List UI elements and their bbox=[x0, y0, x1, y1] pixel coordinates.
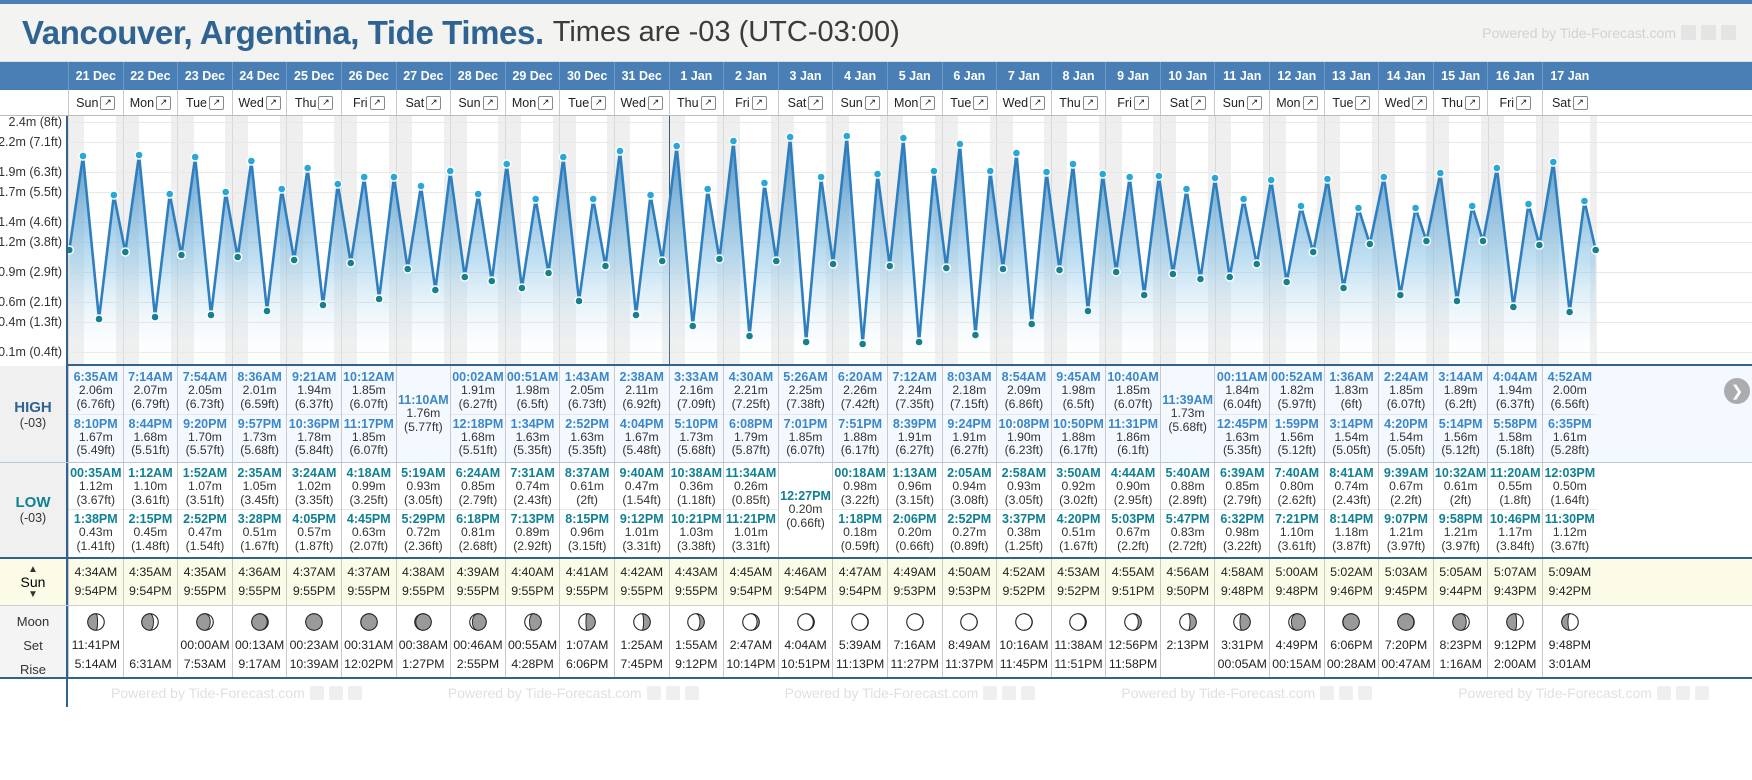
date-header-cell[interactable]: 21 Dec bbox=[68, 62, 123, 90]
weekday-label: Tue bbox=[186, 96, 207, 110]
tide-height-m: 0.99m bbox=[342, 480, 396, 494]
low-tide-point[interactable] bbox=[658, 257, 666, 265]
tide-height-m: 1.01m bbox=[724, 526, 778, 540]
surf-icon bbox=[1695, 686, 1709, 700]
high-tide-point[interactable] bbox=[817, 173, 825, 181]
low-tide-point[interactable] bbox=[1479, 237, 1487, 245]
powered-by-footer: Powered by Tide-Forecast.com bbox=[111, 685, 362, 701]
high-tide-point[interactable] bbox=[729, 137, 737, 145]
tide-height-m: 0.98m bbox=[833, 480, 887, 494]
low-tide-point[interactable] bbox=[942, 264, 950, 272]
sunset-time: 9:54PM bbox=[779, 582, 833, 601]
tide-height-ft: (2ft) bbox=[560, 494, 614, 508]
tide-time: 10:36PM bbox=[287, 417, 341, 431]
low-tide-point[interactable] bbox=[1028, 320, 1036, 328]
low-tide-point[interactable] bbox=[1592, 246, 1600, 254]
low-tide-event: 2:35AM1.05m(3.45ft) bbox=[233, 464, 287, 509]
tide-height-ft: (6.17ft) bbox=[1052, 444, 1106, 458]
low-tide-point[interactable] bbox=[746, 332, 754, 340]
date-header-cell[interactable]: 2 Jan bbox=[723, 62, 778, 90]
low-tide-event: 2:52PM0.27m(0.89ft) bbox=[943, 509, 997, 555]
moonrise-time: 6:31AM bbox=[129, 655, 171, 673]
high-tide-point[interactable] bbox=[417, 182, 425, 190]
tide-height-m: 0.27m bbox=[943, 526, 997, 540]
low-tide-cell: 8:37AM0.61m(2ft)8:15PM0.96m(3.15ft) bbox=[559, 463, 614, 557]
high-tide-point[interactable] bbox=[166, 190, 174, 198]
low-tide-point[interactable] bbox=[999, 265, 1007, 273]
moon-phase-icon bbox=[1395, 611, 1417, 633]
high-tide-point[interactable] bbox=[474, 190, 482, 198]
low-tide-point[interactable] bbox=[121, 248, 129, 256]
high-tide-point[interactable] bbox=[1493, 164, 1501, 172]
low-tide-point[interactable] bbox=[375, 295, 383, 303]
sunset-time: 9:48PM bbox=[1270, 582, 1324, 601]
tide-height-m: 2.25m bbox=[779, 384, 833, 398]
weekday-cell: Thu↗ bbox=[669, 90, 724, 115]
low-tide-point[interactable] bbox=[545, 269, 553, 277]
expand-icon[interactable]: ↗ bbox=[483, 96, 498, 110]
tide-height-ft: (2.95ft) bbox=[1106, 494, 1160, 508]
expand-icon[interactable]: ↗ bbox=[266, 96, 281, 110]
tide-height-ft: (2.79ft) bbox=[1215, 494, 1269, 508]
expand-icon[interactable]: ↗ bbox=[1083, 96, 1098, 110]
expand-icon[interactable]: ↗ bbox=[1134, 96, 1149, 110]
date-header-cell[interactable]: 28 Dec bbox=[450, 62, 505, 90]
low-tide-point[interactable] bbox=[886, 262, 894, 270]
low-tide-cell: 00:35AM1.12m(3.67ft)1:38PM0.43m(1.41ft) bbox=[68, 463, 123, 557]
high-tide-point[interactable] bbox=[930, 167, 938, 175]
tide-height-m: 1.10m bbox=[124, 480, 178, 494]
high-tide-point[interactable] bbox=[1412, 204, 1420, 212]
high-tide-cell: 4:30AM2.21m(7.25ft)6:08PM1.79m(5.87ft) bbox=[723, 366, 778, 462]
tide-time: 10:12AM bbox=[342, 370, 396, 384]
high-tide-point[interactable] bbox=[222, 188, 230, 196]
date-header-cell[interactable]: 26 Dec bbox=[341, 62, 396, 90]
high-tide-cell: 8:36AM2.01m(6.59ft)9:57PM1.73m(5.68ft) bbox=[232, 366, 287, 462]
tide-height-m: 0.61m bbox=[1434, 480, 1488, 494]
low-tide-point[interactable] bbox=[207, 311, 215, 319]
tide-height-m: 1.91m bbox=[451, 384, 505, 398]
low-tide-point[interactable] bbox=[1566, 308, 1574, 316]
high-tide-point[interactable] bbox=[135, 151, 143, 159]
tide-height-ft: (6.73ft) bbox=[560, 398, 614, 412]
powered-by-label: Powered by Tide-Forecast.com bbox=[111, 685, 305, 701]
powered-by-top: Powered by Tide-Forecast.com bbox=[1482, 25, 1736, 41]
low-tide-point[interactable] bbox=[575, 297, 583, 305]
expand-icon[interactable]: ↗ bbox=[752, 96, 767, 110]
expand-icon[interactable]: ↗ bbox=[209, 96, 224, 110]
moonset-time: 00:00AM bbox=[180, 636, 229, 654]
low-tide-point[interactable] bbox=[1112, 268, 1120, 276]
moon-phase-icon bbox=[1013, 611, 1035, 633]
weekday-label: Fri bbox=[1499, 96, 1514, 110]
date-header-cell[interactable]: 15 Jan bbox=[1433, 62, 1488, 90]
high-tide-point[interactable] bbox=[79, 152, 87, 160]
high-tide-point[interactable] bbox=[191, 153, 199, 161]
high-tide-event: 10:08PM1.90m(6.23ft) bbox=[997, 414, 1051, 460]
tide-height-ft: (6.73ft) bbox=[178, 398, 232, 412]
sun-cell: 5:03AM9:45PM bbox=[1378, 559, 1433, 605]
tide-height-m: 1.86m bbox=[1106, 431, 1160, 445]
tide-height-ft: (5.35ft) bbox=[506, 444, 560, 458]
low-tide-point[interactable] bbox=[802, 338, 810, 346]
moonrise-time: 9:12PM bbox=[675, 655, 717, 673]
low-tide-point[interactable] bbox=[772, 257, 780, 265]
tide-height-m: 0.45m bbox=[124, 526, 178, 540]
high-tide-event: 10:12AM1.85m(6.07ft) bbox=[342, 368, 396, 413]
expand-icon[interactable]: ↗ bbox=[1030, 96, 1045, 110]
tide-height-m: 1.54m bbox=[1325, 431, 1379, 445]
high-tide-point[interactable] bbox=[874, 170, 882, 178]
low-tide-point[interactable] bbox=[1340, 284, 1348, 292]
moon-cell: 00:13AM9:17AM bbox=[232, 606, 287, 677]
moon-label-text: Moon bbox=[17, 614, 50, 629]
sun-row: ▲ Sun ▼ 4:34AM9:54PM4:35AM9:54PM4:35AM9:… bbox=[0, 559, 1752, 606]
high-tide-point[interactable] bbox=[986, 167, 994, 175]
low-tide-point[interactable] bbox=[1253, 260, 1261, 268]
low-tide-point[interactable] bbox=[177, 251, 185, 259]
high-tide-cell: 6:20AM2.26m(7.42ft)7:51PM1.88m(6.17ft) bbox=[832, 366, 887, 462]
low-tide-point[interactable] bbox=[859, 340, 867, 348]
low-tide-event: 8:37AM0.61m(2ft) bbox=[560, 464, 614, 509]
high-tide-point[interactable] bbox=[1323, 175, 1331, 183]
tide-height-ft: (1.67ft) bbox=[233, 540, 287, 554]
low-tide-point[interactable] bbox=[1309, 248, 1317, 256]
expand-icon[interactable]: ↗ bbox=[100, 96, 115, 110]
high-tide-point[interactable] bbox=[616, 147, 624, 155]
date-header-cell[interactable]: 23 Dec bbox=[177, 62, 232, 90]
expand-icon[interactable]: ↗ bbox=[1412, 96, 1427, 110]
sunset-time: 9:55PM bbox=[560, 582, 614, 601]
expand-icon[interactable]: ↗ bbox=[1303, 96, 1318, 110]
low-tide-event: 1:52AM1.07m(3.51ft) bbox=[178, 464, 232, 509]
high-tide-event: 00:11AM1.84m(6.04ft) bbox=[1215, 368, 1269, 413]
low-tide-point[interactable] bbox=[95, 315, 103, 323]
low-tide-point[interactable] bbox=[915, 338, 923, 346]
expand-icon[interactable]: ↗ bbox=[1465, 96, 1480, 110]
tide-time: 3:24AM bbox=[287, 466, 341, 480]
low-tide-point[interactable] bbox=[689, 322, 697, 330]
sunset-time: 9:55PM bbox=[670, 582, 724, 601]
moonset-label-text: Set bbox=[23, 638, 43, 653]
tide-time: 11:10AM bbox=[397, 393, 451, 407]
date-header-cell[interactable]: 9 Jan bbox=[1105, 62, 1160, 90]
high-tide-point[interactable] bbox=[532, 195, 540, 203]
date-header-cell[interactable]: 22 Dec bbox=[123, 62, 178, 90]
moon-phase-icon bbox=[139, 611, 161, 633]
tide-height-m: 1.10m bbox=[1270, 526, 1324, 540]
high-tide-point[interactable] bbox=[1297, 202, 1305, 210]
high-tide-point[interactable] bbox=[1240, 195, 1248, 203]
tide-time: 1:38PM bbox=[69, 512, 123, 526]
high-tide-point[interactable] bbox=[1012, 149, 1020, 157]
date-header-cell[interactable]: 12 Jan bbox=[1269, 62, 1324, 90]
date-header-cell[interactable]: 17 Jan bbox=[1542, 62, 1597, 90]
sunset-time: 9:54PM bbox=[69, 582, 123, 601]
moonrise-time bbox=[1186, 655, 1189, 673]
tide-height-ft: (5.51ft) bbox=[451, 444, 505, 458]
sunset-time: 9:53PM bbox=[888, 582, 942, 601]
tide-time: 8:37AM bbox=[560, 466, 614, 480]
y-axis-tick-label: 0.9m (2.9ft) bbox=[0, 265, 62, 279]
low-tide-point[interactable] bbox=[1535, 241, 1543, 249]
surf-icon bbox=[1721, 25, 1736, 40]
page-title: Vancouver, Argentina, Tide Times. bbox=[22, 14, 544, 52]
high-tide-point[interactable] bbox=[1380, 173, 1388, 181]
high-tide-point[interactable] bbox=[760, 179, 768, 187]
date-header-cell[interactable]: 3 Jan bbox=[778, 62, 833, 90]
tide-height-ft: (5.12ft) bbox=[1434, 444, 1488, 458]
moon-cell: 9:12PM2:00AM bbox=[1487, 606, 1542, 677]
expand-icon[interactable]: ↗ bbox=[1191, 96, 1206, 110]
tide-height-ft: (6.04ft) bbox=[1215, 398, 1269, 412]
low-tide-point[interactable] bbox=[347, 259, 355, 267]
low-tide-point[interactable] bbox=[68, 246, 73, 254]
moon-cell: 9:48PM3:01AM bbox=[1542, 606, 1597, 677]
low-tide-point[interactable] bbox=[1509, 303, 1517, 311]
tide-time: 5:03PM bbox=[1106, 512, 1160, 526]
chart-plot-area[interactable] bbox=[68, 116, 1752, 366]
moon-phase-icon bbox=[904, 611, 926, 633]
expand-icon[interactable]: ↗ bbox=[1516, 96, 1531, 110]
moonrise-time: 1:16AM bbox=[1439, 655, 1481, 673]
tide-time: 9:07PM bbox=[1379, 512, 1433, 526]
high-tide-point[interactable] bbox=[786, 133, 794, 141]
date-header-cell[interactable]: 30 Dec bbox=[559, 62, 614, 90]
moon-label: Moon Set Rise bbox=[0, 606, 68, 677]
weekday-cell: Tue↗ bbox=[559, 90, 614, 115]
sun-cell: 4:53AM9:52PM bbox=[1051, 559, 1106, 605]
tide-height-ft: (6.07ft) bbox=[342, 398, 396, 412]
low-tide-event: 12:27PM0.20m(0.66ft) bbox=[779, 487, 833, 532]
moonrise-time: 5:14AM bbox=[75, 655, 117, 673]
high-tide-cell: 10:40AM1.85m(6.07ft)11:31PM1.86m(6.1ft) bbox=[1105, 366, 1160, 462]
low-tide-point[interactable] bbox=[431, 286, 439, 294]
sunrise-time: 4:42AM bbox=[615, 563, 669, 582]
low-tide-cell: 9:39AM0.67m(2.2ft)9:07PM1.21m(3.97ft) bbox=[1378, 463, 1433, 557]
low-tide-event: 9:58PM1.21m(3.97ft) bbox=[1434, 509, 1488, 555]
date-header-cell[interactable]: 4 Jan bbox=[832, 62, 887, 90]
tide-height-m: 1.07m bbox=[178, 480, 232, 494]
low-tide-point[interactable] bbox=[715, 255, 723, 263]
tide-time: 3:33AM bbox=[670, 370, 724, 384]
expand-icon[interactable]: ↗ bbox=[648, 96, 663, 110]
tide-height-ft: (6.27ft) bbox=[451, 398, 505, 412]
refresh-icon bbox=[329, 686, 343, 700]
high-tide-point[interactable] bbox=[503, 160, 511, 168]
weekday-corner bbox=[0, 90, 68, 115]
expand-icon[interactable]: ↗ bbox=[808, 96, 823, 110]
date-header-cell[interactable]: 27 Dec bbox=[396, 62, 451, 90]
high-tide-event: 00:51AM1.98m(6.5ft) bbox=[506, 368, 560, 413]
low-tide-point[interactable] bbox=[1396, 291, 1404, 299]
date-header-cell[interactable]: 5 Jan bbox=[887, 62, 942, 90]
high-tide-point[interactable] bbox=[1580, 197, 1588, 205]
expand-icon[interactable]: ↗ bbox=[156, 96, 171, 110]
weekday-cell: Sun↗ bbox=[68, 90, 123, 115]
low-tide-event: 11:20AM0.55m(1.8ft) bbox=[1488, 464, 1542, 509]
low-tide-point[interactable] bbox=[319, 301, 327, 309]
weekday-label: Sun bbox=[458, 96, 480, 110]
low-tide-cell: 2:35AM1.05m(3.45ft)3:28PM0.51m(1.67ft) bbox=[232, 463, 287, 557]
tide-height-m: 2.05m bbox=[178, 384, 232, 398]
high-tide-event: 3:33AM2.16m(7.09ft) bbox=[670, 368, 724, 413]
low-tide-point[interactable] bbox=[1366, 240, 1374, 248]
high-tide-point[interactable] bbox=[1468, 202, 1476, 210]
high-tide-point[interactable] bbox=[1211, 174, 1219, 182]
low-tide-point[interactable] bbox=[971, 331, 979, 339]
low-tide-point[interactable] bbox=[632, 311, 640, 319]
date-header-cell[interactable]: 10 Jan bbox=[1160, 62, 1215, 90]
sunset-time: 9:54PM bbox=[724, 582, 778, 601]
high-tide-point[interactable] bbox=[1436, 169, 1444, 177]
high-tide-point[interactable] bbox=[390, 173, 398, 181]
low-tide-point[interactable] bbox=[404, 265, 412, 273]
expand-icon[interactable]: ↗ bbox=[973, 96, 988, 110]
moonrise-time: 3:01AM bbox=[1549, 655, 1591, 673]
low-tide-point[interactable] bbox=[234, 253, 242, 261]
expand-icon[interactable]: ↗ bbox=[865, 96, 880, 110]
high-tide-point[interactable] bbox=[704, 185, 712, 193]
high-tide-point[interactable] bbox=[1267, 176, 1275, 184]
tide-height-m: 0.26m bbox=[724, 480, 778, 494]
tide-height-m: 1.58m bbox=[1488, 431, 1542, 445]
high-tide-point[interactable] bbox=[334, 180, 342, 188]
high-tide-point[interactable] bbox=[1524, 200, 1532, 208]
tide-time: 00:52AM bbox=[1270, 370, 1324, 384]
date-header-cell[interactable]: 6 Jan bbox=[942, 62, 997, 90]
high-tide-point[interactable] bbox=[559, 153, 567, 161]
sunset-time: 9:55PM bbox=[342, 582, 396, 601]
date-header-cell[interactable]: 8 Jan bbox=[1051, 62, 1106, 90]
date-header-cell[interactable]: 11 Jan bbox=[1214, 62, 1269, 90]
moon-cell: 2:13PM bbox=[1160, 606, 1215, 677]
powered-by-label: Powered by Tide-Forecast.com bbox=[448, 685, 642, 701]
high-tide-point[interactable] bbox=[1549, 158, 1557, 166]
tide-time: 5:40AM bbox=[1161, 466, 1215, 480]
weekday-label: Wed bbox=[1003, 96, 1028, 110]
moon-phase-icon bbox=[958, 611, 980, 633]
low-tide-cell: 2:05AM0.94m(3.08ft)2:52PM0.27m(0.89ft) bbox=[942, 463, 997, 557]
high-tide-point[interactable] bbox=[843, 132, 851, 140]
high-tide-point[interactable] bbox=[1183, 185, 1191, 193]
low-tide-point[interactable] bbox=[151, 313, 159, 321]
date-header-cell[interactable]: 1 Jan bbox=[669, 62, 724, 90]
tide-height-m: 0.43m bbox=[69, 526, 123, 540]
low-tide-point[interactable] bbox=[488, 277, 496, 285]
low-tide-point[interactable] bbox=[1422, 237, 1430, 245]
low-tide-point[interactable] bbox=[1056, 266, 1064, 274]
high-tide-point[interactable] bbox=[1126, 173, 1134, 181]
expand-icon[interactable]: ↗ bbox=[1573, 96, 1588, 110]
high-tide-point[interactable] bbox=[304, 164, 312, 172]
moonrise-time: 00:47AM bbox=[1381, 655, 1430, 673]
high-tide-point[interactable] bbox=[673, 142, 681, 150]
low-tide-point[interactable] bbox=[1140, 291, 1148, 299]
tide-height-m: 0.47m bbox=[178, 526, 232, 540]
high-tide-event: 7:12AM2.24m(7.35ft) bbox=[888, 368, 942, 413]
expand-icon[interactable]: ↗ bbox=[701, 96, 716, 110]
expand-icon[interactable]: ↗ bbox=[1247, 96, 1262, 110]
date-header-cell[interactable]: 31 Dec bbox=[614, 62, 669, 90]
tide-height-ft: (3.67ft) bbox=[69, 494, 123, 508]
tide-height-m: 0.96m bbox=[888, 480, 942, 494]
tide-time: 7:40AM bbox=[1270, 466, 1324, 480]
expand-icon[interactable]: ↗ bbox=[920, 96, 935, 110]
expand-icon[interactable]: ↗ bbox=[426, 96, 441, 110]
tide-height-m: 1.73m bbox=[670, 431, 724, 445]
low-tide-point[interactable] bbox=[461, 273, 469, 281]
date-header-cell[interactable]: 16 Jan bbox=[1487, 62, 1542, 90]
expand-icon[interactable]: ↗ bbox=[538, 96, 553, 110]
low-tide-point[interactable] bbox=[829, 260, 837, 268]
high-tide-point[interactable] bbox=[247, 157, 255, 165]
high-tide-point[interactable] bbox=[589, 195, 597, 203]
scroll-right-button[interactable]: ❯ bbox=[1724, 378, 1750, 404]
high-tide-point[interactable] bbox=[899, 134, 907, 142]
low-tide-point[interactable] bbox=[1283, 278, 1291, 286]
low-tide-point[interactable] bbox=[1226, 273, 1234, 281]
low-tide-event: 3:37PM0.38m(1.25ft) bbox=[997, 509, 1051, 555]
expand-icon[interactable]: ↗ bbox=[318, 96, 333, 110]
weekday-cell: Fri↗ bbox=[723, 90, 778, 115]
expand-icon[interactable]: ↗ bbox=[591, 96, 606, 110]
high-tide-point[interactable] bbox=[1043, 168, 1051, 176]
date-header-cell[interactable]: 29 Dec bbox=[505, 62, 560, 90]
tide-time: 8:10PM bbox=[69, 417, 123, 431]
date-header-cell[interactable]: 14 Jan bbox=[1378, 62, 1433, 90]
low-tide-point[interactable] bbox=[290, 256, 298, 264]
low-tide-point[interactable] bbox=[1169, 270, 1177, 278]
moon-phase-icon bbox=[576, 611, 598, 633]
high-tide-cell: 11:39AM1.73m(5.68ft) bbox=[1160, 366, 1215, 462]
tide-height-ft: (6.07ft) bbox=[342, 444, 396, 458]
moon-cell: 11:41PM5:14AM bbox=[68, 606, 123, 677]
high-tide-point[interactable] bbox=[647, 191, 655, 199]
high-tide-point[interactable] bbox=[1155, 172, 1163, 180]
high-tide-point[interactable] bbox=[1099, 170, 1107, 178]
low-tide-point[interactable] bbox=[263, 307, 271, 315]
expand-icon[interactable]: ↗ bbox=[1355, 96, 1370, 110]
moon-cell: 6:31AM bbox=[123, 606, 178, 677]
high-tide-point[interactable] bbox=[110, 191, 118, 199]
high-tide-cell: 00:51AM1.98m(6.5ft)1:34PM1.63m(5.35ft) bbox=[505, 366, 560, 462]
low-tide-point[interactable] bbox=[1084, 307, 1092, 315]
date-header-cell[interactable]: 25 Dec bbox=[286, 62, 341, 90]
high-tide-point[interactable] bbox=[1354, 204, 1362, 212]
expand-icon[interactable]: ↗ bbox=[370, 96, 385, 110]
high-tide-event: 10:36PM1.78m(5.84ft) bbox=[287, 414, 341, 460]
high-tide-point[interactable] bbox=[278, 185, 286, 193]
high-tide-point[interactable] bbox=[1069, 160, 1077, 168]
tide-height-m: 1.68m bbox=[124, 431, 178, 445]
tide-time: 8:39PM bbox=[888, 417, 942, 431]
date-header-cell[interactable]: 7 Jan bbox=[996, 62, 1051, 90]
low-tide-cell: 1:13AM0.96m(3.15ft)2:06PM0.20m(0.66ft) bbox=[887, 463, 942, 557]
low-tide-point[interactable] bbox=[1196, 275, 1204, 283]
date-header-cell[interactable]: 13 Jan bbox=[1324, 62, 1379, 90]
low-tide-point[interactable] bbox=[1453, 297, 1461, 305]
high-tide-point[interactable] bbox=[360, 173, 368, 181]
date-header-cell[interactable]: 24 Dec bbox=[232, 62, 287, 90]
low-tide-point[interactable] bbox=[601, 262, 609, 270]
surf-icon bbox=[348, 686, 362, 700]
high-tide-point[interactable] bbox=[956, 140, 964, 148]
weekday-cell: Mon↗ bbox=[1269, 90, 1324, 115]
high-tide-point[interactable] bbox=[446, 167, 454, 175]
low-tide-point[interactable] bbox=[518, 284, 526, 292]
high-tide-event: 11:17PM1.85m(6.07ft) bbox=[342, 414, 396, 460]
